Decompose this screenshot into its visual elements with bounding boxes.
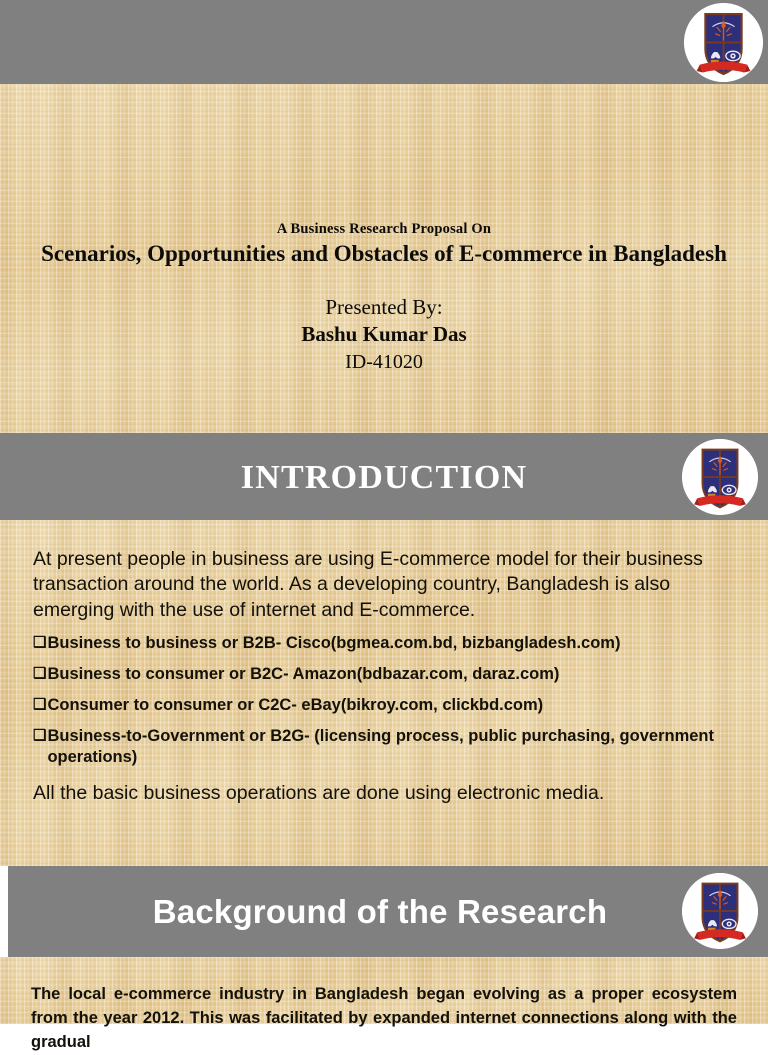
checkbox-bullet-icon: ❑: [33, 726, 46, 746]
introduction-body: At present people in business are using …: [33, 547, 738, 806]
checkbox-bullet-icon: ❑: [33, 633, 46, 653]
proposal-subtitle: A Business Research Proposal On: [0, 220, 768, 238]
checkbox-bullet-icon: ❑: [33, 664, 46, 684]
presented-by-label: Presented By:: [0, 294, 768, 321]
list-item-label: Business to consumer or B2C- Amazon(bdba…: [47, 664, 738, 685]
university-of-dhaka-crest-icon-2: [682, 439, 758, 515]
presenter-block: Presented By: Bashu Kumar Das ID-41020: [0, 294, 768, 375]
checkbox-bullet-icon: ❑: [33, 695, 46, 715]
list-item: ❑ Business-to-Government or B2G- (licens…: [33, 726, 738, 768]
list-item: ❑ Business to consumer or B2C- Amazon(bd…: [33, 664, 738, 685]
introduction-paragraph: At present people in business are using …: [33, 547, 738, 623]
title-slide-text-block: A Business Research Proposal On Scenario…: [0, 220, 768, 269]
university-of-dhaka-crest-icon: [684, 3, 763, 82]
list-item-label: Business to business or B2B- Cisco(bgmea…: [47, 633, 738, 654]
list-item-label: Business-to-Government or B2G- (licensin…: [47, 726, 738, 768]
background-heading-band: Background of the Research: [8, 866, 768, 957]
university-of-dhaka-crest-icon-3: [682, 873, 758, 949]
list-item: ❑ Business to business or B2B- Cisco(bgm…: [33, 633, 738, 654]
background-paragraph: The local e-commerce industry in Banglad…: [31, 983, 737, 1055]
title-slide-top-band: [0, 0, 768, 84]
background-heading: Background of the Research: [153, 893, 607, 931]
introduction-heading: INTRODUCTION: [241, 459, 527, 497]
introduction-heading-band: INTRODUCTION: [0, 433, 768, 520]
page-title: Scenarios, Opportunities and Obstacles o…: [0, 240, 768, 269]
list-item: ❑ Consumer to consumer or C2C- eBay(bikr…: [33, 695, 738, 716]
list-item-label: Consumer to consumer or C2C- eBay(bikroy…: [47, 695, 738, 716]
introduction-closing-paragraph: All the basic business operations are do…: [33, 781, 738, 806]
presenter-name: Bashu Kumar Das: [0, 321, 768, 348]
presenter-id: ID-41020: [0, 349, 768, 375]
